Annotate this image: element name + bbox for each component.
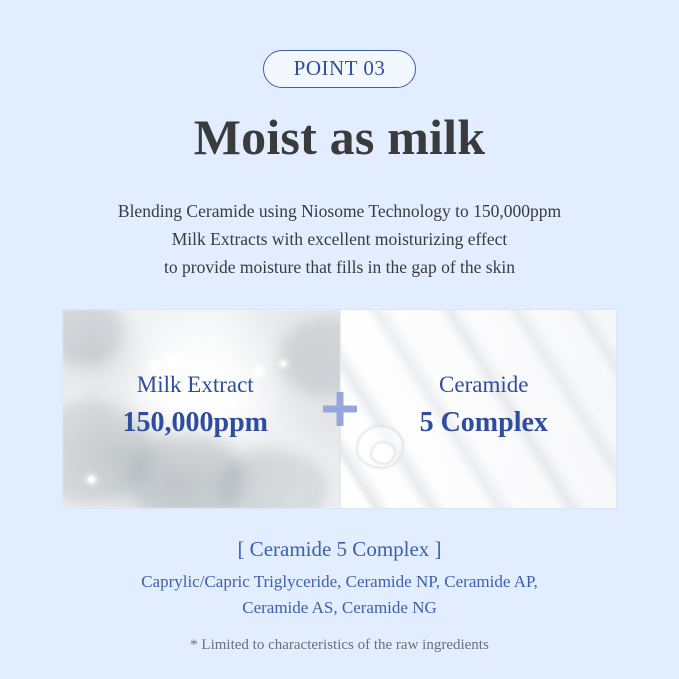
ingredient-list: Caprylic/Capric Triglyceride, Ceramide N… <box>0 569 679 621</box>
point-badge-row: POINT 03 <box>0 50 679 88</box>
panel-left-milk: Milk Extract 150,000ppm <box>63 310 340 508</box>
description-block: Blending Ceramide using Niosome Technolo… <box>0 197 679 281</box>
promo-page: POINT 03 Moist as milk Blending Ceramide… <box>0 0 679 679</box>
description-line-1: Blending Ceramide using Niosome Technolo… <box>0 197 679 225</box>
point-badge: POINT 03 <box>263 50 417 88</box>
ingredient-title: [ Ceramide 5 Complex ] <box>0 537 679 562</box>
description-line-2: Milk Extracts with excellent moisturizin… <box>0 225 679 253</box>
milk-extract-value: 150,000ppm <box>63 407 334 439</box>
ceramide-value: 5 Complex <box>346 407 617 439</box>
panel-right-ceramide: Ceramide 5 Complex <box>340 310 617 508</box>
ingredient-line-1: Caprylic/Capric Triglyceride, Ceramide N… <box>0 569 679 595</box>
page-title: Moist as milk <box>0 108 679 166</box>
footnote: * Limited to characteristics of the raw … <box>0 637 679 654</box>
ceramide-label: Ceramide <box>346 372 617 398</box>
cream-swirl <box>370 441 396 465</box>
description-line-3: to provide moisture that fills in the ga… <box>0 253 679 281</box>
milk-droplet <box>165 354 181 366</box>
ingredient-line-2: Ceramide AS, Ceramide NG <box>0 595 679 621</box>
milk-extract-label: Milk Extract <box>63 372 334 398</box>
ingredient-image-panel: Milk Extract 150,000ppm Ceramide 5 Compl… <box>62 309 617 509</box>
